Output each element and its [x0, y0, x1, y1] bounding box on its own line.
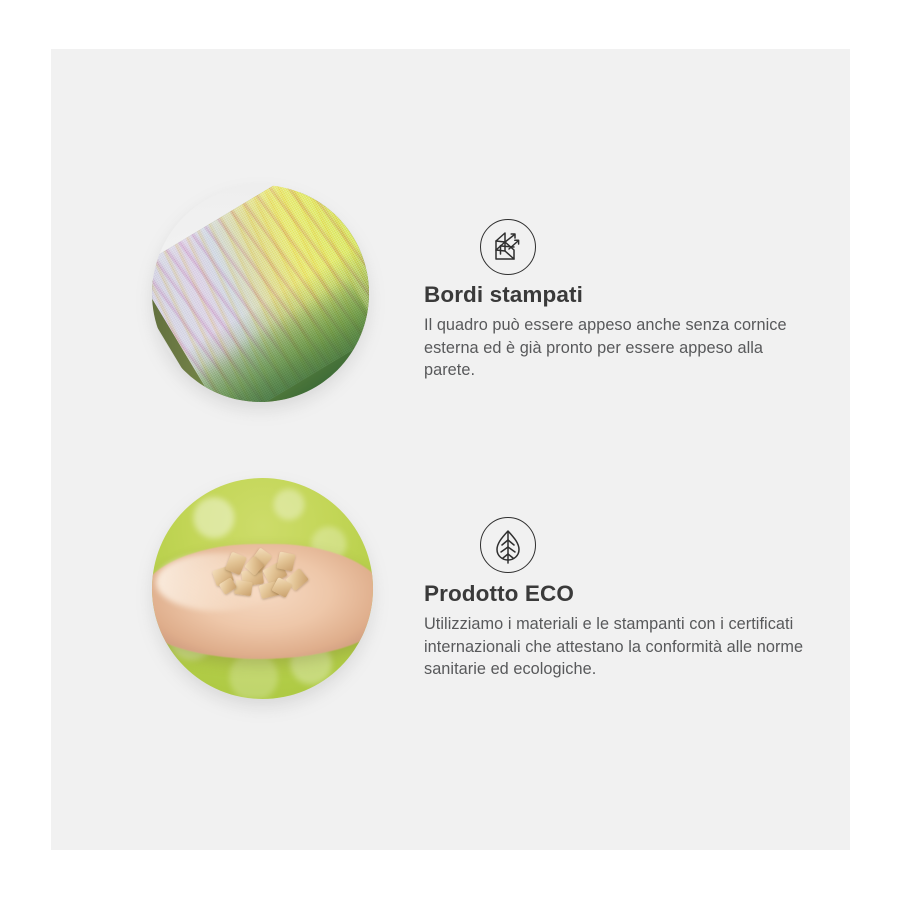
feature-block-printed-edges: Bordi stampati Il quadro può essere appe…	[51, 49, 850, 429]
feature-description: Il quadro può essere appeso anche senza …	[424, 314, 809, 383]
content-panel: Bordi stampati Il quadro può essere appe…	[51, 49, 850, 850]
feature-title: Prodotto ECO	[424, 581, 809, 608]
feature-description: Utilizziamo i materiali e le stampanti c…	[424, 613, 809, 682]
hands-with-wood-chips-photo	[152, 478, 373, 699]
printed-edges-icon	[480, 219, 536, 275]
canvas-print-corner-photo	[152, 185, 369, 402]
leaf-icon	[480, 517, 536, 573]
eco-photo-scene	[152, 478, 373, 699]
wood-chips	[209, 544, 324, 606]
feature-text-printed-edges: Bordi stampati Il quadro può essere appe…	[424, 282, 809, 382]
canvas-photo-scene	[152, 185, 369, 402]
product-info-page: Bordi stampati Il quadro può essere appe…	[0, 0, 900, 900]
feature-title: Bordi stampati	[424, 282, 809, 309]
feature-text-eco-product: Prodotto ECO Utilizziamo i materiali e l…	[424, 581, 809, 681]
feature-block-eco-product: Prodotto ECO Utilizziamo i materiali e l…	[51, 429, 850, 809]
